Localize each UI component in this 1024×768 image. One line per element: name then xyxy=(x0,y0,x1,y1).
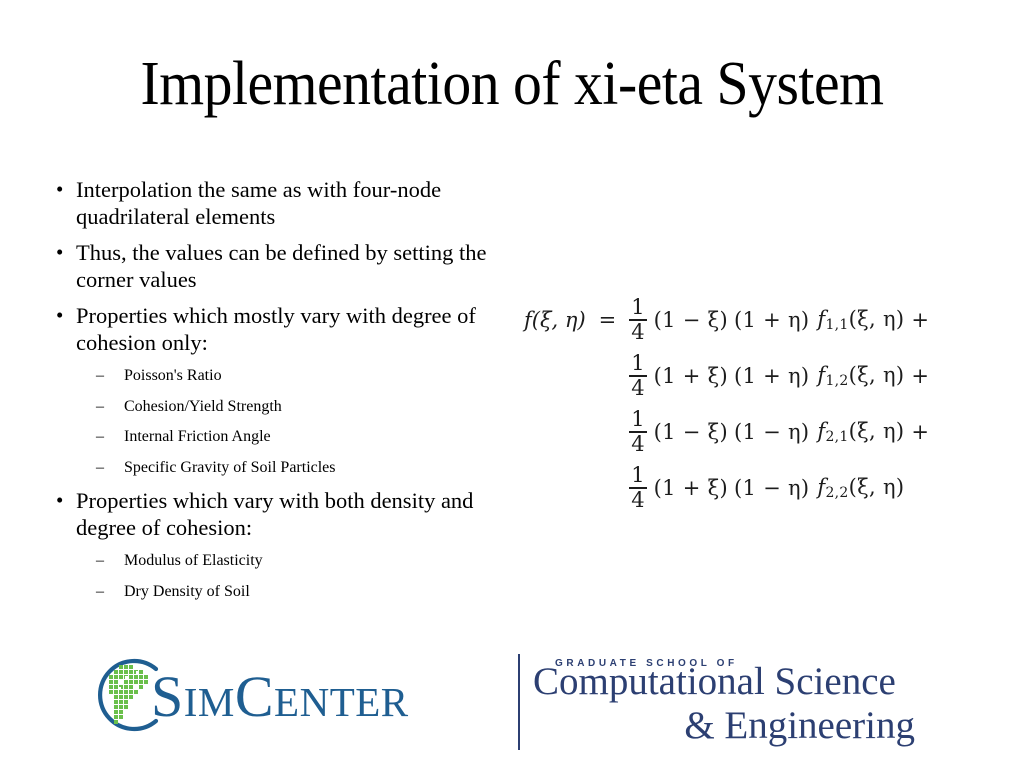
bullet-list: • Interpolation the same as with four-no… xyxy=(50,176,505,611)
equation-relation: = xyxy=(599,308,617,332)
bullet-marker-icon: • xyxy=(50,176,76,203)
bullet-text: Thus, the values can be defined by setti… xyxy=(76,239,505,293)
equation-factor-eta: (1 + η) xyxy=(734,308,809,332)
fraction-one-quarter: 1 4 xyxy=(629,353,646,398)
fraction-one-quarter: 1 4 xyxy=(629,409,646,454)
equation-factor-eta: (1 − η) xyxy=(734,476,809,500)
sub-bullet-text: Modulus of Elasticity xyxy=(124,550,505,572)
dash-marker-icon: – xyxy=(50,457,124,479)
logo-graduate-school-label: GRADUATE SCHOOL OF xyxy=(555,658,738,669)
equation-operator-plus: + xyxy=(911,364,929,388)
list-item: • Interpolation the same as with four-no… xyxy=(50,176,505,230)
equation-function-args: (ξ, η) xyxy=(849,419,905,443)
dash-marker-icon: – xyxy=(50,581,124,603)
equation-operator-plus: + xyxy=(911,420,929,444)
sub-bullet-text: Poisson's Ratio xyxy=(124,365,505,387)
sub-list-item: – Internal Friction Angle xyxy=(50,426,505,448)
sub-bullet-text: Specific Gravity of Soil Particles xyxy=(124,457,505,479)
equation-term-row: 1 4 (1 + ξ) (1 − η) f2,2(ξ, η) xyxy=(629,460,929,516)
dash-marker-icon: – xyxy=(50,550,124,572)
logo-divider xyxy=(518,654,520,750)
equation-function-args: (ξ, η) xyxy=(849,363,905,387)
equation-operator-plus: + xyxy=(911,308,929,332)
interpolation-equation: f(ξ, η) = 1 4 (1 − ξ) (1 + η) f1,1(ξ, η)… xyxy=(524,292,929,516)
page-title: Implementation of xi-eta System xyxy=(36,52,988,117)
bullet-text: Properties which vary with both density … xyxy=(76,487,505,541)
equation-factor-xi: (1 + ξ) xyxy=(654,364,728,388)
equation-function-subscript: 1,1 xyxy=(825,317,848,333)
equation-term-row: 1 4 (1 − ξ) (1 + η) f1,1(ξ, η) + xyxy=(629,292,929,348)
equation-term-row: 1 4 (1 + ξ) (1 + η) f1,2(ξ, η) + xyxy=(629,348,929,404)
equation-lhs: f(ξ, η) xyxy=(524,308,586,332)
bullet-marker-icon: • xyxy=(50,302,76,329)
equation-factor-eta: (1 − η) xyxy=(734,420,809,444)
sub-bullet-list: – Poisson's Ratio – Cohesion/Yield Stren… xyxy=(50,365,505,479)
bullet-marker-icon: • xyxy=(50,487,76,514)
logo-tagline-line2: & Engineering xyxy=(533,704,933,748)
equation-function-args: (ξ, η) xyxy=(849,307,905,331)
equation-function-subscript: 2,2 xyxy=(825,485,848,501)
sub-bullet-text: Internal Friction Angle xyxy=(124,426,505,448)
dash-marker-icon: – xyxy=(50,396,124,418)
sub-bullet-list: – Modulus of Elasticity – Dry Density of… xyxy=(50,550,505,603)
bullet-text: Interpolation the same as with four-node… xyxy=(76,176,505,230)
sub-bullet-text: Dry Density of Soil xyxy=(124,581,505,603)
list-item: • Properties which mostly vary with degr… xyxy=(50,302,505,356)
sub-bullet-text: Cohesion/Yield Strength xyxy=(124,396,505,418)
sub-list-item: – Dry Density of Soil xyxy=(50,581,505,603)
equation-factor-xi: (1 + ξ) xyxy=(654,476,728,500)
equation-factor-xi: (1 − ξ) xyxy=(654,420,728,444)
bullet-marker-icon: • xyxy=(50,239,76,266)
sub-list-item: – Modulus of Elasticity xyxy=(50,550,505,572)
equation-function-subscript: 1,2 xyxy=(825,373,848,389)
logo-tagline: Computational Science GRADUATE SCHOOL OF… xyxy=(533,652,933,756)
bullet-text: Properties which mostly vary with degree… xyxy=(76,302,505,356)
fraction-one-quarter: 1 4 xyxy=(629,465,646,510)
simcenter-logo: SimCenter Computational Science GRADUATE… xyxy=(93,652,933,756)
equation-function-args: (ξ, η) xyxy=(849,475,905,499)
sub-list-item: – Poisson's Ratio xyxy=(50,365,505,387)
sub-list-item: – Specific Gravity of Soil Particles xyxy=(50,457,505,479)
list-item: • Thus, the values can be defined by set… xyxy=(50,239,505,293)
equation-term-row: 1 4 (1 − ξ) (1 − η) f2,1(ξ, η) + xyxy=(629,404,929,460)
fraction-one-quarter: 1 4 xyxy=(629,297,646,342)
equation-factor-eta: (1 + η) xyxy=(734,364,809,388)
equation-factor-xi: (1 − ξ) xyxy=(654,308,728,332)
equation-function-subscript: 2,1 xyxy=(825,429,848,445)
sub-list-item: – Cohesion/Yield Strength xyxy=(50,396,505,418)
dash-marker-icon: – xyxy=(50,426,124,448)
simcenter-wordmark: SimCenter xyxy=(151,666,409,728)
list-item: • Properties which vary with both densit… xyxy=(50,487,505,541)
dash-marker-icon: – xyxy=(50,365,124,387)
